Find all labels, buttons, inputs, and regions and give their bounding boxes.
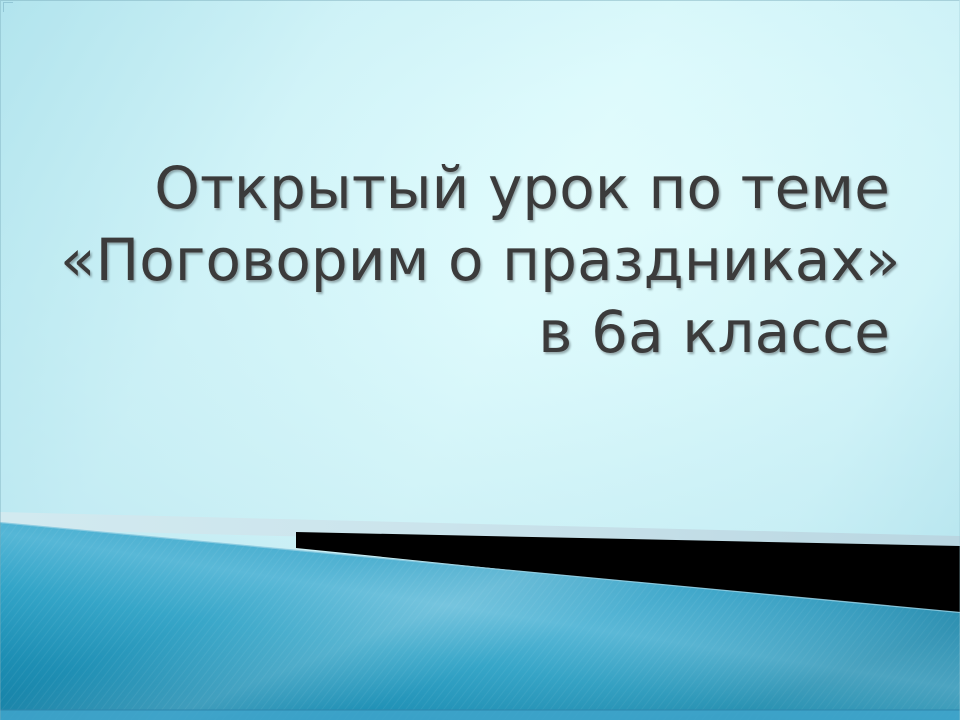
bottom-edge-strip	[0, 710, 960, 720]
title-line-3: в 6а классе	[60, 296, 890, 368]
title-slide: Открытый урок по теме «Поговорим о празд…	[0, 0, 960, 720]
title-line-1: Открытый урок по теме	[60, 152, 890, 224]
slide-title: Открытый урок по теме «Поговорим о празд…	[60, 152, 890, 368]
title-line-2: «Поговорим о праздниках»	[60, 224, 890, 296]
corner-mark-icon	[3, 2, 13, 12]
